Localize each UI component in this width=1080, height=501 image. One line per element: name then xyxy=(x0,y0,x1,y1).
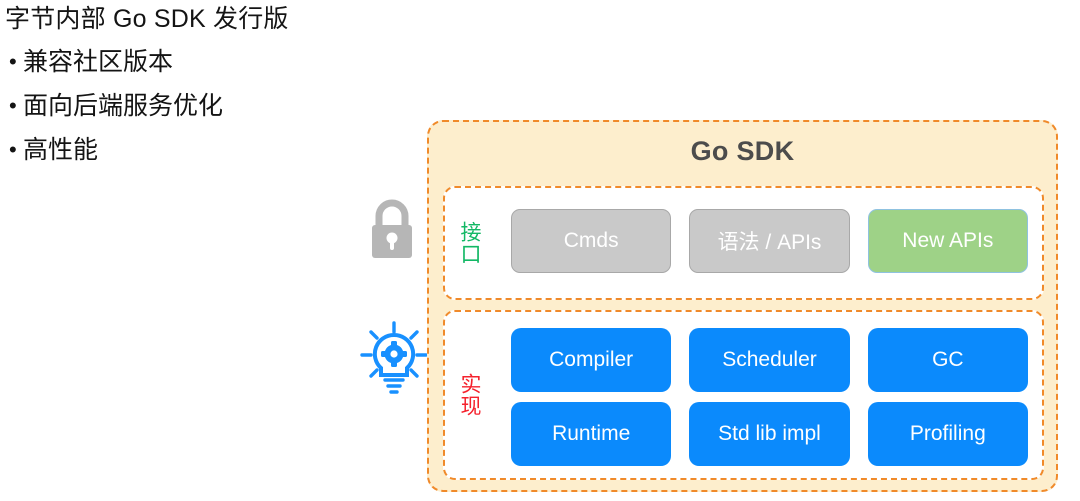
chip-cmds[interactable]: Cmds xyxy=(511,209,671,273)
interface-chip-row: Cmds 语法 / APIs New APIs xyxy=(511,209,1028,273)
chip-scheduler[interactable]: Scheduler xyxy=(689,328,849,392)
implementation-chip-row-2: Runtime Std lib impl Profiling xyxy=(511,402,1028,466)
list-item-label: 面向后端服务优化 xyxy=(23,88,223,124)
chip-profiling[interactable]: Profiling xyxy=(868,402,1028,466)
bullet-dot-icon: • xyxy=(5,88,23,124)
lock-icon xyxy=(363,196,421,262)
chip-syntax-apis[interactable]: 语法 / APIs xyxy=(689,209,849,273)
implementation-chip-row-1: Compiler Scheduler GC xyxy=(511,328,1028,392)
go-sdk-title: Go SDK xyxy=(429,136,1056,167)
bullet-dot-icon: • xyxy=(5,44,23,80)
chip-runtime[interactable]: Runtime xyxy=(511,402,671,466)
bullet-dot-icon: • xyxy=(5,132,23,168)
chip-compiler[interactable]: Compiler xyxy=(511,328,671,392)
interface-panel: 接口 Cmds 语法 / APIs New APIs xyxy=(443,186,1044,300)
list-item: • 兼容社区版本 xyxy=(5,44,405,88)
chip-gc[interactable]: GC xyxy=(868,328,1028,392)
list-item-label: 高性能 xyxy=(23,132,98,168)
list-item: • 高性能 xyxy=(5,132,405,176)
diagram-icon-column xyxy=(355,120,425,490)
implementation-panel: 实现 Compiler Scheduler GC Runtime Std lib… xyxy=(443,310,1044,480)
lightbulb-gear-icon xyxy=(359,320,429,398)
list-item: • 面向后端服务优化 xyxy=(5,88,405,132)
go-sdk-container: Go SDK 接口 Cmds 语法 / APIs New APIs 实现 Com… xyxy=(427,120,1058,492)
list-item-label: 兼容社区版本 xyxy=(23,44,173,80)
bullet-list: • 兼容社区版本 • 面向后端服务优化 • 高性能 xyxy=(5,44,405,176)
implementation-section-label: 实现 xyxy=(459,373,480,417)
slide-text-pane: 字节内部 Go SDK 发行版 • 兼容社区版本 • 面向后端服务优化 • 高性… xyxy=(5,2,405,176)
chip-new-apis[interactable]: New APIs xyxy=(868,209,1028,273)
chip-std-lib-impl[interactable]: Std lib impl xyxy=(689,402,849,466)
page-title: 字节内部 Go SDK 发行版 xyxy=(5,2,405,36)
interface-section-label: 接口 xyxy=(459,221,480,265)
